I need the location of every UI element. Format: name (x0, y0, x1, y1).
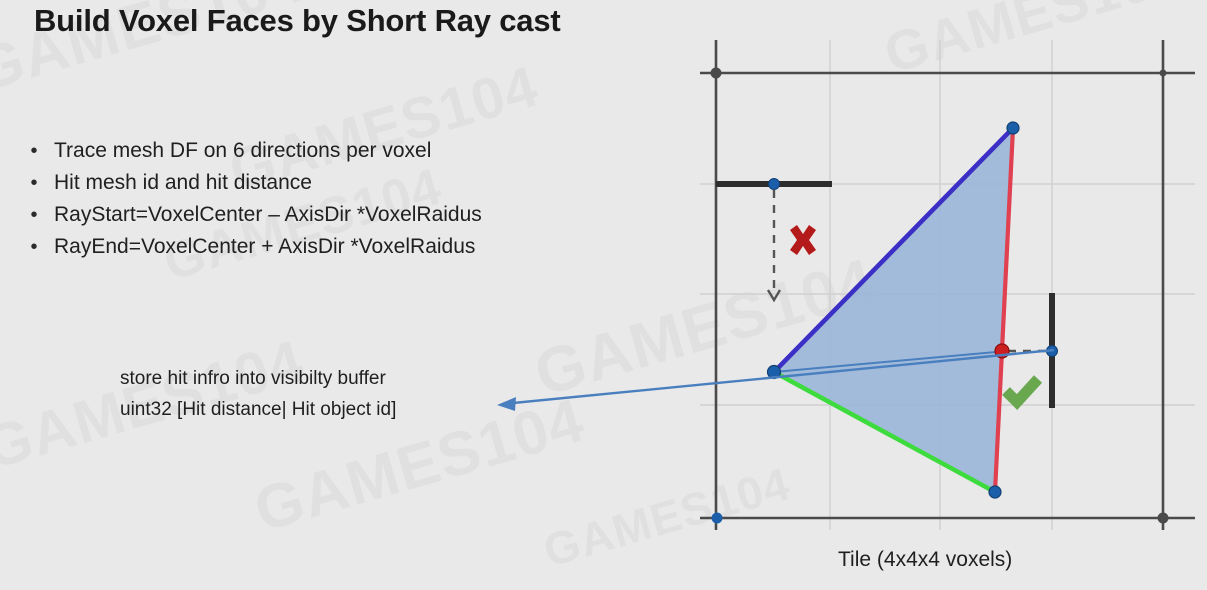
corner-handle-bottom-left (712, 513, 723, 524)
slide-canvas: GAMES104 GAMES104 GAMES104 GAMES104 GAME… (0, 0, 1207, 590)
voxel-tile-diagram (0, 0, 1207, 590)
vertex-dot-top (1007, 122, 1019, 134)
ray-start-vertex-dot (769, 179, 780, 190)
corner-handle-bottom-right (1158, 513, 1169, 524)
vertex-dot-bottom (989, 486, 1001, 498)
corner-handle-top-right (1160, 70, 1167, 77)
miss-case-group (716, 179, 832, 301)
cross-mark-icon (790, 225, 816, 255)
check-mark-icon (1006, 379, 1038, 402)
callout-arrowhead-icon (497, 397, 516, 411)
miss-ray-arrowhead-icon (768, 290, 780, 300)
corner-handle-top-left (711, 68, 722, 79)
